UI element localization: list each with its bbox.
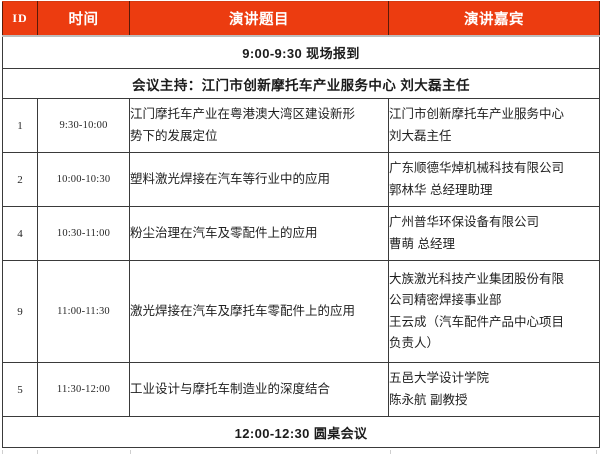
table-header: ID 时间 演讲题目 演讲嘉宾 xyxy=(3,2,600,37)
banner-row-host: 会议主持：江门市创新摩托车产业服务中心 刘大磊主任 xyxy=(3,69,600,99)
guest-line: 大族激光科技产业集团股份有限 xyxy=(389,269,599,291)
banner-row-closing: 12:00-12:30 圆桌会议 xyxy=(3,417,600,448)
banner-host-text: 会议主持：江门市创新摩托车产业服务中心 刘大磊主任 xyxy=(3,69,600,99)
table-header-row: ID 时间 演讲题目 演讲嘉宾 xyxy=(3,2,600,37)
banner-row-registration: 9:00-9:30 现场报到 xyxy=(3,36,600,69)
title-line: 工业设计与摩托车制造业的深度结合 xyxy=(130,379,388,401)
banner-registration-text: 9:00-9:30 现场报到 xyxy=(3,36,600,69)
row-guest: 江门市创新摩托车产业服务中心 刘大磊主任 xyxy=(389,99,600,153)
table-row: 2 10:00-10:30 塑料激光焊接在汽车等行业中的应用 广东顺德华焯机械科… xyxy=(3,153,600,207)
row-id: 1 xyxy=(3,99,38,153)
table-row: 5 11:30-12:00 工业设计与摩托车制造业的深度结合 五邑大学设计学院 … xyxy=(3,363,600,417)
guest-line: 曹萌 总经理 xyxy=(389,234,599,256)
clipped-bottom-row xyxy=(2,450,597,454)
row-time: 11:00-11:30 xyxy=(38,261,130,363)
row-id: 4 xyxy=(3,207,38,261)
row-time: 9:30-10:00 xyxy=(38,99,130,153)
guest-line: 公司精密焊接事业部 xyxy=(389,290,599,312)
agenda-table-container: ID 时间 演讲题目 演讲嘉宾 9:00-9:30 现场报到 会议主持：江门市创… xyxy=(0,0,600,454)
table-row: 4 10:30-11:00 粉尘治理在汽车及零配件上的应用 广州普华环保设备有限… xyxy=(3,207,600,261)
row-time: 10:30-11:00 xyxy=(38,207,130,261)
guest-line: 广州普华环保设备有限公司 xyxy=(389,212,599,234)
conference-agenda-table: ID 时间 演讲题目 演讲嘉宾 9:00-9:30 现场报到 会议主持：江门市创… xyxy=(2,1,600,448)
row-title: 塑料激光焊接在汽车等行业中的应用 xyxy=(130,153,389,207)
row-id: 9 xyxy=(3,261,38,363)
guest-line: 江门市创新摩托车产业服务中心 xyxy=(389,104,599,126)
row-id: 5 xyxy=(3,363,38,417)
guest-line: 郭林华 总经理助理 xyxy=(389,180,599,202)
guest-line: 刘大磊主任 xyxy=(389,126,599,148)
guest-line: 五邑大学设计学院 xyxy=(389,368,599,390)
row-title: 粉尘治理在汽车及零配件上的应用 xyxy=(130,207,389,261)
row-time: 10:00-10:30 xyxy=(38,153,130,207)
row-id: 2 xyxy=(3,153,38,207)
row-guest: 五邑大学设计学院 陈永航 副教授 xyxy=(389,363,600,417)
row-time: 11:30-12:00 xyxy=(38,363,130,417)
title-line: 江门摩托车产业在粤港澳大湾区建设新形 xyxy=(130,104,388,126)
row-title: 江门摩托车产业在粤港澳大湾区建设新形 势下的发展定位 xyxy=(130,99,389,153)
table-row: 1 9:30-10:00 江门摩托车产业在粤港澳大湾区建设新形 势下的发展定位 … xyxy=(3,99,600,153)
column-header-id: ID xyxy=(3,2,38,37)
title-line: 粉尘治理在汽车及零配件上的应用 xyxy=(130,223,388,245)
title-line: 激光焊接在汽车及摩托车零配件上的应用 xyxy=(130,301,388,323)
table-body: 9:00-9:30 现场报到 会议主持：江门市创新摩托车产业服务中心 刘大磊主任… xyxy=(3,36,600,448)
title-line: 势下的发展定位 xyxy=(130,126,388,148)
table-row: 9 11:00-11:30 激光焊接在汽车及摩托车零配件上的应用 大族激光科技产… xyxy=(3,261,600,363)
guest-line: 王云成（汽车配件产品中心项目 xyxy=(389,312,599,334)
guest-line: 陈永航 副教授 xyxy=(389,390,599,412)
row-guest: 大族激光科技产业集团股份有限 公司精密焊接事业部 王云成（汽车配件产品中心项目 … xyxy=(389,261,600,363)
title-line: 塑料激光焊接在汽车等行业中的应用 xyxy=(130,169,388,191)
banner-closing-text: 12:00-12:30 圆桌会议 xyxy=(3,417,600,448)
guest-line: 负责人） xyxy=(389,333,599,355)
row-title: 工业设计与摩托车制造业的深度结合 xyxy=(130,363,389,417)
column-header-time: 时间 xyxy=(38,2,130,37)
guest-line: 广东顺德华焯机械科技有限公司 xyxy=(389,158,599,180)
row-guest: 广东顺德华焯机械科技有限公司 郭林华 总经理助理 xyxy=(389,153,600,207)
column-header-title: 演讲题目 xyxy=(130,2,389,37)
column-header-guest: 演讲嘉宾 xyxy=(389,2,600,37)
row-title: 激光焊接在汽车及摩托车零配件上的应用 xyxy=(130,261,389,363)
row-guest: 广州普华环保设备有限公司 曹萌 总经理 xyxy=(389,207,600,261)
